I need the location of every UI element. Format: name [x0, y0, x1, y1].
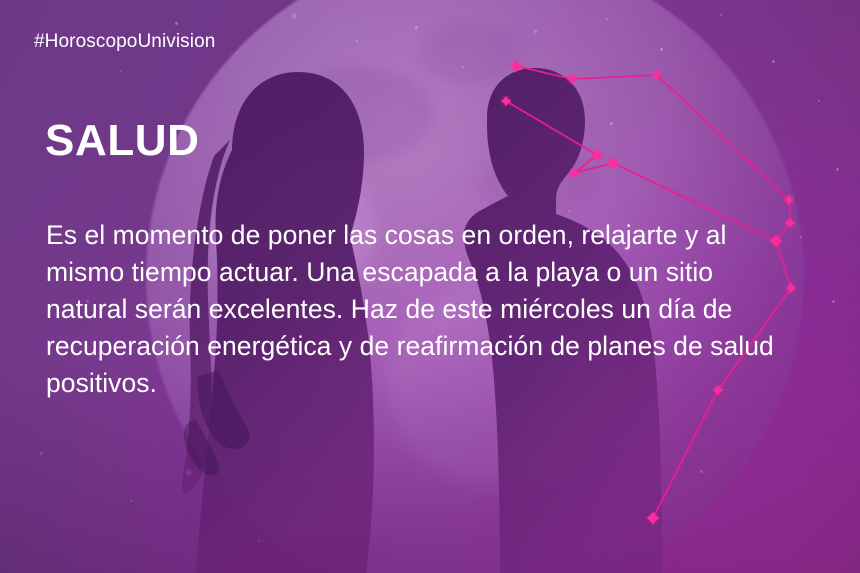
constellation-line	[516, 66, 572, 79]
page-title: SALUD	[45, 117, 200, 165]
constellation-line	[506, 101, 597, 155]
constellation-line	[657, 75, 789, 200]
horoscope-card: #HoroscopoUnivision SALUD Es el momento …	[0, 0, 860, 573]
constellation-star	[509, 59, 523, 73]
constellation-star	[606, 156, 620, 170]
hashtag-label: #HoroscopoUnivision	[34, 31, 215, 53]
constellation-star	[646, 511, 660, 525]
constellation-line	[572, 75, 657, 79]
horoscope-body-text: Es el momento de poner las cosas en orde…	[46, 217, 791, 402]
constellation-line	[653, 390, 718, 518]
